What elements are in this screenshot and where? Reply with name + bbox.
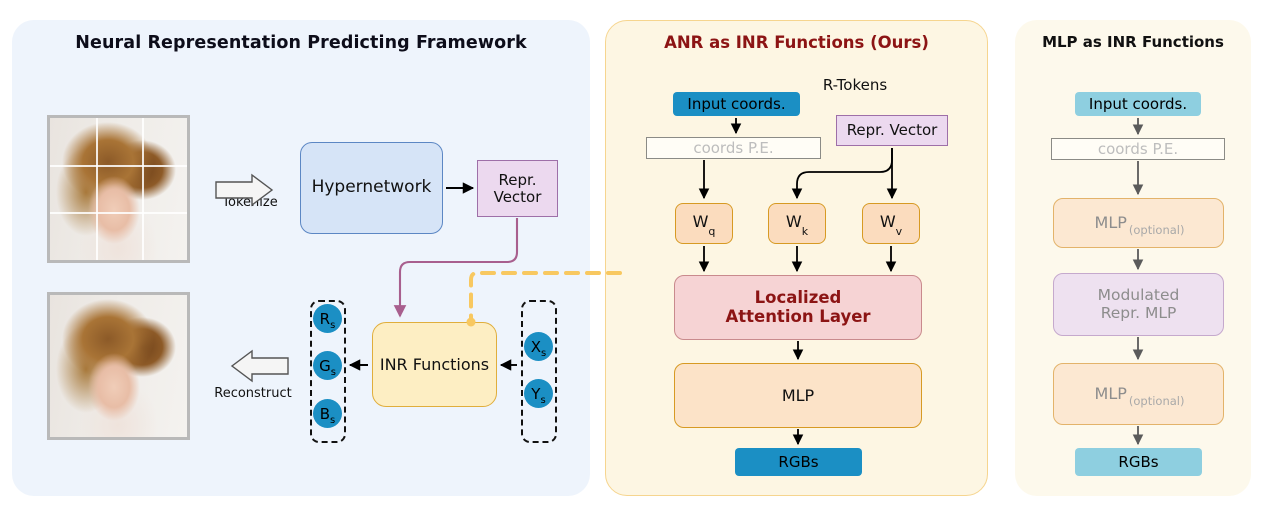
portrait-image-reconstructed — [50, 295, 187, 437]
token-subscript: s — [540, 395, 545, 406]
wk-label: W — [786, 212, 802, 231]
inr-functions-box[interactable]: INR Functions — [372, 322, 497, 407]
modulated-label-line1: Modulated — [1098, 287, 1180, 304]
modulated-label-line2: Repr. MLP — [1098, 305, 1180, 322]
right-coords-pe-box: coords P.E. — [1051, 138, 1225, 160]
mid-repr-vector-box[interactable]: Repr. Vector — [836, 115, 948, 146]
token-subscript: s — [330, 320, 335, 331]
wq-label: W — [693, 212, 709, 231]
wv-box[interactable]: Wv — [862, 203, 920, 244]
repr-vector-label-line2: Vector — [494, 189, 542, 206]
token-g-label: G — [319, 357, 331, 375]
token-y: Ys — [524, 379, 553, 408]
grid-line — [96, 118, 98, 260]
token-b: Bs — [313, 399, 342, 428]
output-image-thumbnail — [47, 292, 190, 440]
portrait-image-tokenized — [50, 118, 187, 260]
panel-mlp-title: MLP as INR Functions — [1015, 33, 1251, 51]
wv-label: W — [880, 212, 896, 231]
mid-coords-pe-label: coords P.E. — [693, 140, 773, 157]
modulated-repr-mlp-box[interactable]: Modulated Repr. MLP — [1053, 273, 1224, 336]
token-x-label: X — [531, 338, 541, 356]
mid-repr-vector-label: Repr. Vector — [847, 122, 938, 139]
wq-subscript: q — [708, 225, 715, 238]
inr-functions-label: INR Functions — [380, 356, 489, 374]
token-subscript: s — [331, 367, 336, 378]
hypernetwork-label: Hypernetwork — [312, 178, 432, 197]
wv-subscript: v — [896, 225, 903, 238]
repr-vector-label-line1: Repr. — [494, 172, 542, 189]
input-image-thumbnail — [47, 115, 190, 263]
right-mlp-top-box[interactable]: MLP(optional) — [1053, 198, 1224, 248]
hypernetwork-box[interactable]: Hypernetwork — [300, 142, 443, 234]
token-r-label: R — [320, 310, 330, 328]
tokenize-label: Tokenize — [205, 195, 295, 210]
mid-mlp-label: MLP — [782, 387, 814, 405]
right-rgbs-box[interactable]: RGBs — [1075, 448, 1202, 476]
repr-vector-box[interactable]: Repr. Vector — [477, 160, 558, 217]
right-mlp-bottom-label: MLP — [1095, 384, 1127, 403]
panel-framework-title: Neural Representation Predicting Framewo… — [12, 33, 590, 53]
localized-attention-layer-box[interactable]: Localized Attention Layer — [674, 275, 922, 340]
grid-line — [142, 118, 144, 260]
right-mlp-top-label: MLP — [1095, 213, 1127, 232]
token-subscript: s — [541, 348, 546, 359]
r-tokens-label: R-Tokens — [790, 76, 920, 94]
attention-label-line1: Localized — [725, 289, 870, 307]
wk-box[interactable]: Wk — [768, 203, 826, 244]
mid-rgbs-box[interactable]: RGBs — [735, 448, 862, 476]
token-b-label: B — [320, 405, 330, 423]
right-rgbs-label: RGBs — [1118, 454, 1158, 471]
right-mlp-top-optional: (optional) — [1129, 223, 1185, 237]
wq-box[interactable]: Wq — [675, 203, 733, 244]
right-input-coords-box[interactable]: Input coords. — [1075, 92, 1201, 116]
reconstruct-label: Reconstruct — [198, 386, 308, 401]
grid-line — [50, 212, 187, 214]
diagram-canvas: Neural Representation Predicting Framewo… — [0, 0, 1264, 515]
attention-label-line2: Attention Layer — [725, 308, 870, 326]
token-r: Rs — [313, 304, 342, 333]
wk-subscript: k — [802, 225, 808, 238]
xy-token-group — [521, 300, 557, 443]
grid-line — [50, 165, 187, 167]
token-subscript: s — [330, 415, 335, 426]
mid-input-coords-box[interactable]: Input coords. — [673, 92, 800, 116]
mid-mlp-box[interactable]: MLP — [674, 363, 922, 428]
panel-anr-title: ANR as INR Functions (Ours) — [605, 33, 988, 52]
mid-coords-pe-box: coords P.E. — [646, 137, 821, 159]
right-mlp-bottom-box[interactable]: MLP(optional) — [1053, 363, 1224, 425]
right-input-coords-label: Input coords. — [1089, 96, 1187, 113]
token-g: Gs — [313, 351, 342, 380]
right-mlp-bottom-optional: (optional) — [1129, 394, 1185, 408]
mid-rgbs-label: RGBs — [778, 454, 818, 471]
mid-input-coords-label: Input coords. — [687, 96, 785, 113]
right-coords-pe-label: coords P.E. — [1098, 141, 1178, 158]
token-x: Xs — [524, 332, 553, 361]
